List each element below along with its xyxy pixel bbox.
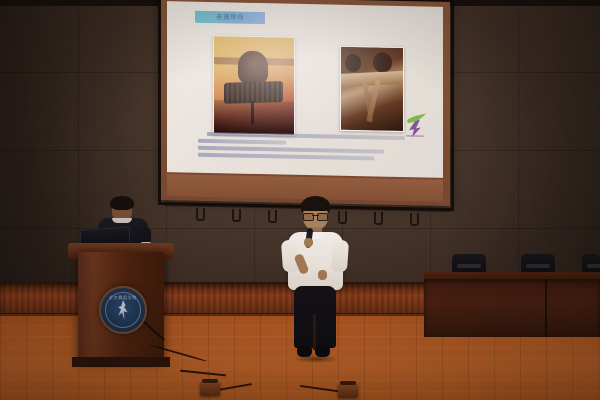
operator-collar [112,218,132,223]
chair-back-slot [587,264,600,268]
rail-hook [374,212,383,225]
stage-floor-light [338,384,358,398]
speaker-glasses [303,213,328,219]
speaker-sleeve-right [331,239,349,272]
speaker-leg-gap [313,314,316,350]
speaker [280,196,350,368]
floor-light-hood [202,379,218,383]
speaker-hand-holding-mic [304,238,313,247]
institution-seal: 北京舞蹈学院 [99,286,147,334]
rail-hook [196,208,205,221]
stage-floor-light [200,382,220,396]
glasses-bridge [312,215,319,216]
floor-light-hood [340,381,356,385]
conference-table [424,279,600,337]
rail-hook [410,213,419,226]
podium-base [72,357,170,367]
operator-hair [110,196,134,210]
screen-outer-frame [158,0,454,211]
table-panel-seam [545,279,547,337]
speaker-fringe [301,200,330,211]
chair-back-slot [526,264,550,268]
auditorium-photo: 亲遇导师 [0,0,600,400]
chair-back-slot [457,264,481,268]
rail-hook [268,210,277,223]
rail-hook [232,209,241,222]
speaker-floor-shadow [292,355,340,363]
speaker-hand-right [318,270,327,280]
